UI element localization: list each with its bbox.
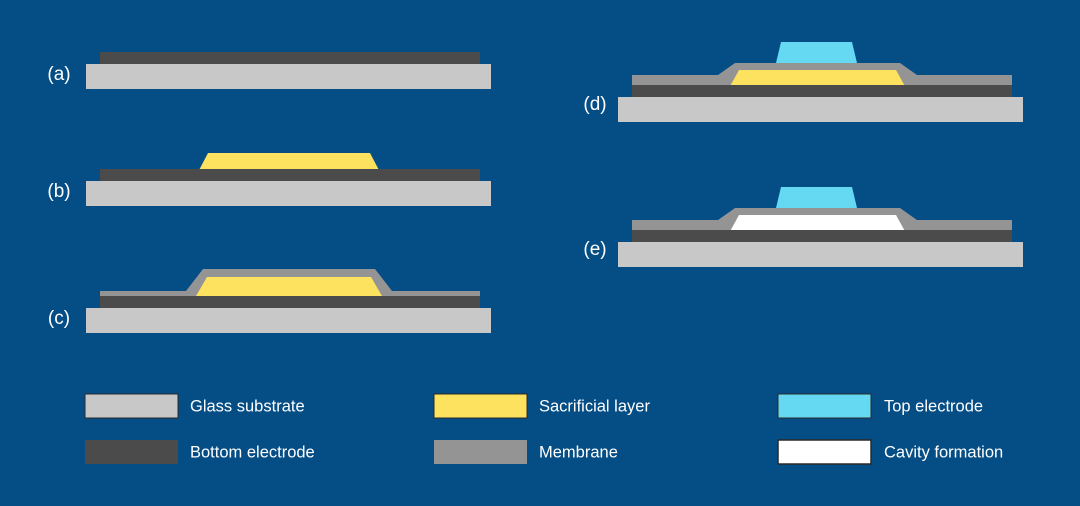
panel-c: (c) [48,269,491,333]
panel-a-glass-substrate [86,64,491,89]
panel-a-label: (a) [47,64,70,85]
legend-swatch-cavity-formation [778,440,871,464]
legend-item-top-electrode: Top electrode [778,394,983,418]
legend-item-bottom-electrode: Bottom electrode [85,440,315,464]
panel-e-top-electrode [776,187,857,208]
panel-b-label: (b) [47,181,70,202]
panel-d: (d) [583,42,1023,122]
panel-c-bottom-electrode [100,296,480,308]
legend-item-glass-substrate: Glass substrate [85,394,305,418]
panel-a-bottom-electrode [100,52,480,64]
legend-label-top-electrode: Top electrode [884,397,983,415]
legend-item-cavity-formation: Cavity formation [778,440,1003,464]
panel-b-bottom-electrode [100,169,480,181]
panel-d-bottom-electrode [632,85,1012,97]
legend-label-bottom-electrode: Bottom electrode [190,443,315,461]
panel-c-label: (c) [48,308,70,329]
panel-e-label: (e) [583,239,606,260]
legend-swatch-top-electrode [778,394,871,418]
legend-label-sacrificial-layer: Sacrificial layer [539,397,650,415]
panel-e-bottom-electrode [632,230,1012,242]
panel-c-glass-substrate [86,308,491,333]
process-flow-diagram: (a) (b) (c) (d) [0,0,1080,506]
legend-label-cavity-formation: Cavity formation [884,443,1003,461]
legend-swatch-glass-substrate [85,394,178,418]
legend-swatch-sacrificial-layer [434,394,527,418]
panel-d-top-electrode [776,42,857,63]
panel-d-label: (d) [583,94,606,115]
legend-label-glass-substrate: Glass substrate [190,397,305,415]
figure-root: (a) (b) (c) (d) [0,0,1080,506]
panel-a: (a) [47,52,491,89]
legend-swatch-bottom-electrode [85,440,178,464]
legend: Glass substrate Bottom electrode Sacrifi… [85,394,1003,464]
legend-item-membrane: Membrane [434,440,618,464]
legend-label-membrane: Membrane [539,443,618,461]
panel-c-sacrificial-layer [196,277,382,296]
panel-b-glass-substrate [86,181,491,206]
legend-item-sacrificial-layer: Sacrificial layer [434,394,650,418]
panel-e-glass-substrate [618,242,1023,267]
panel-b: (b) [47,153,491,206]
panel-e: (e) [583,187,1023,267]
legend-swatch-membrane [434,440,527,464]
panel-d-glass-substrate [618,97,1023,122]
